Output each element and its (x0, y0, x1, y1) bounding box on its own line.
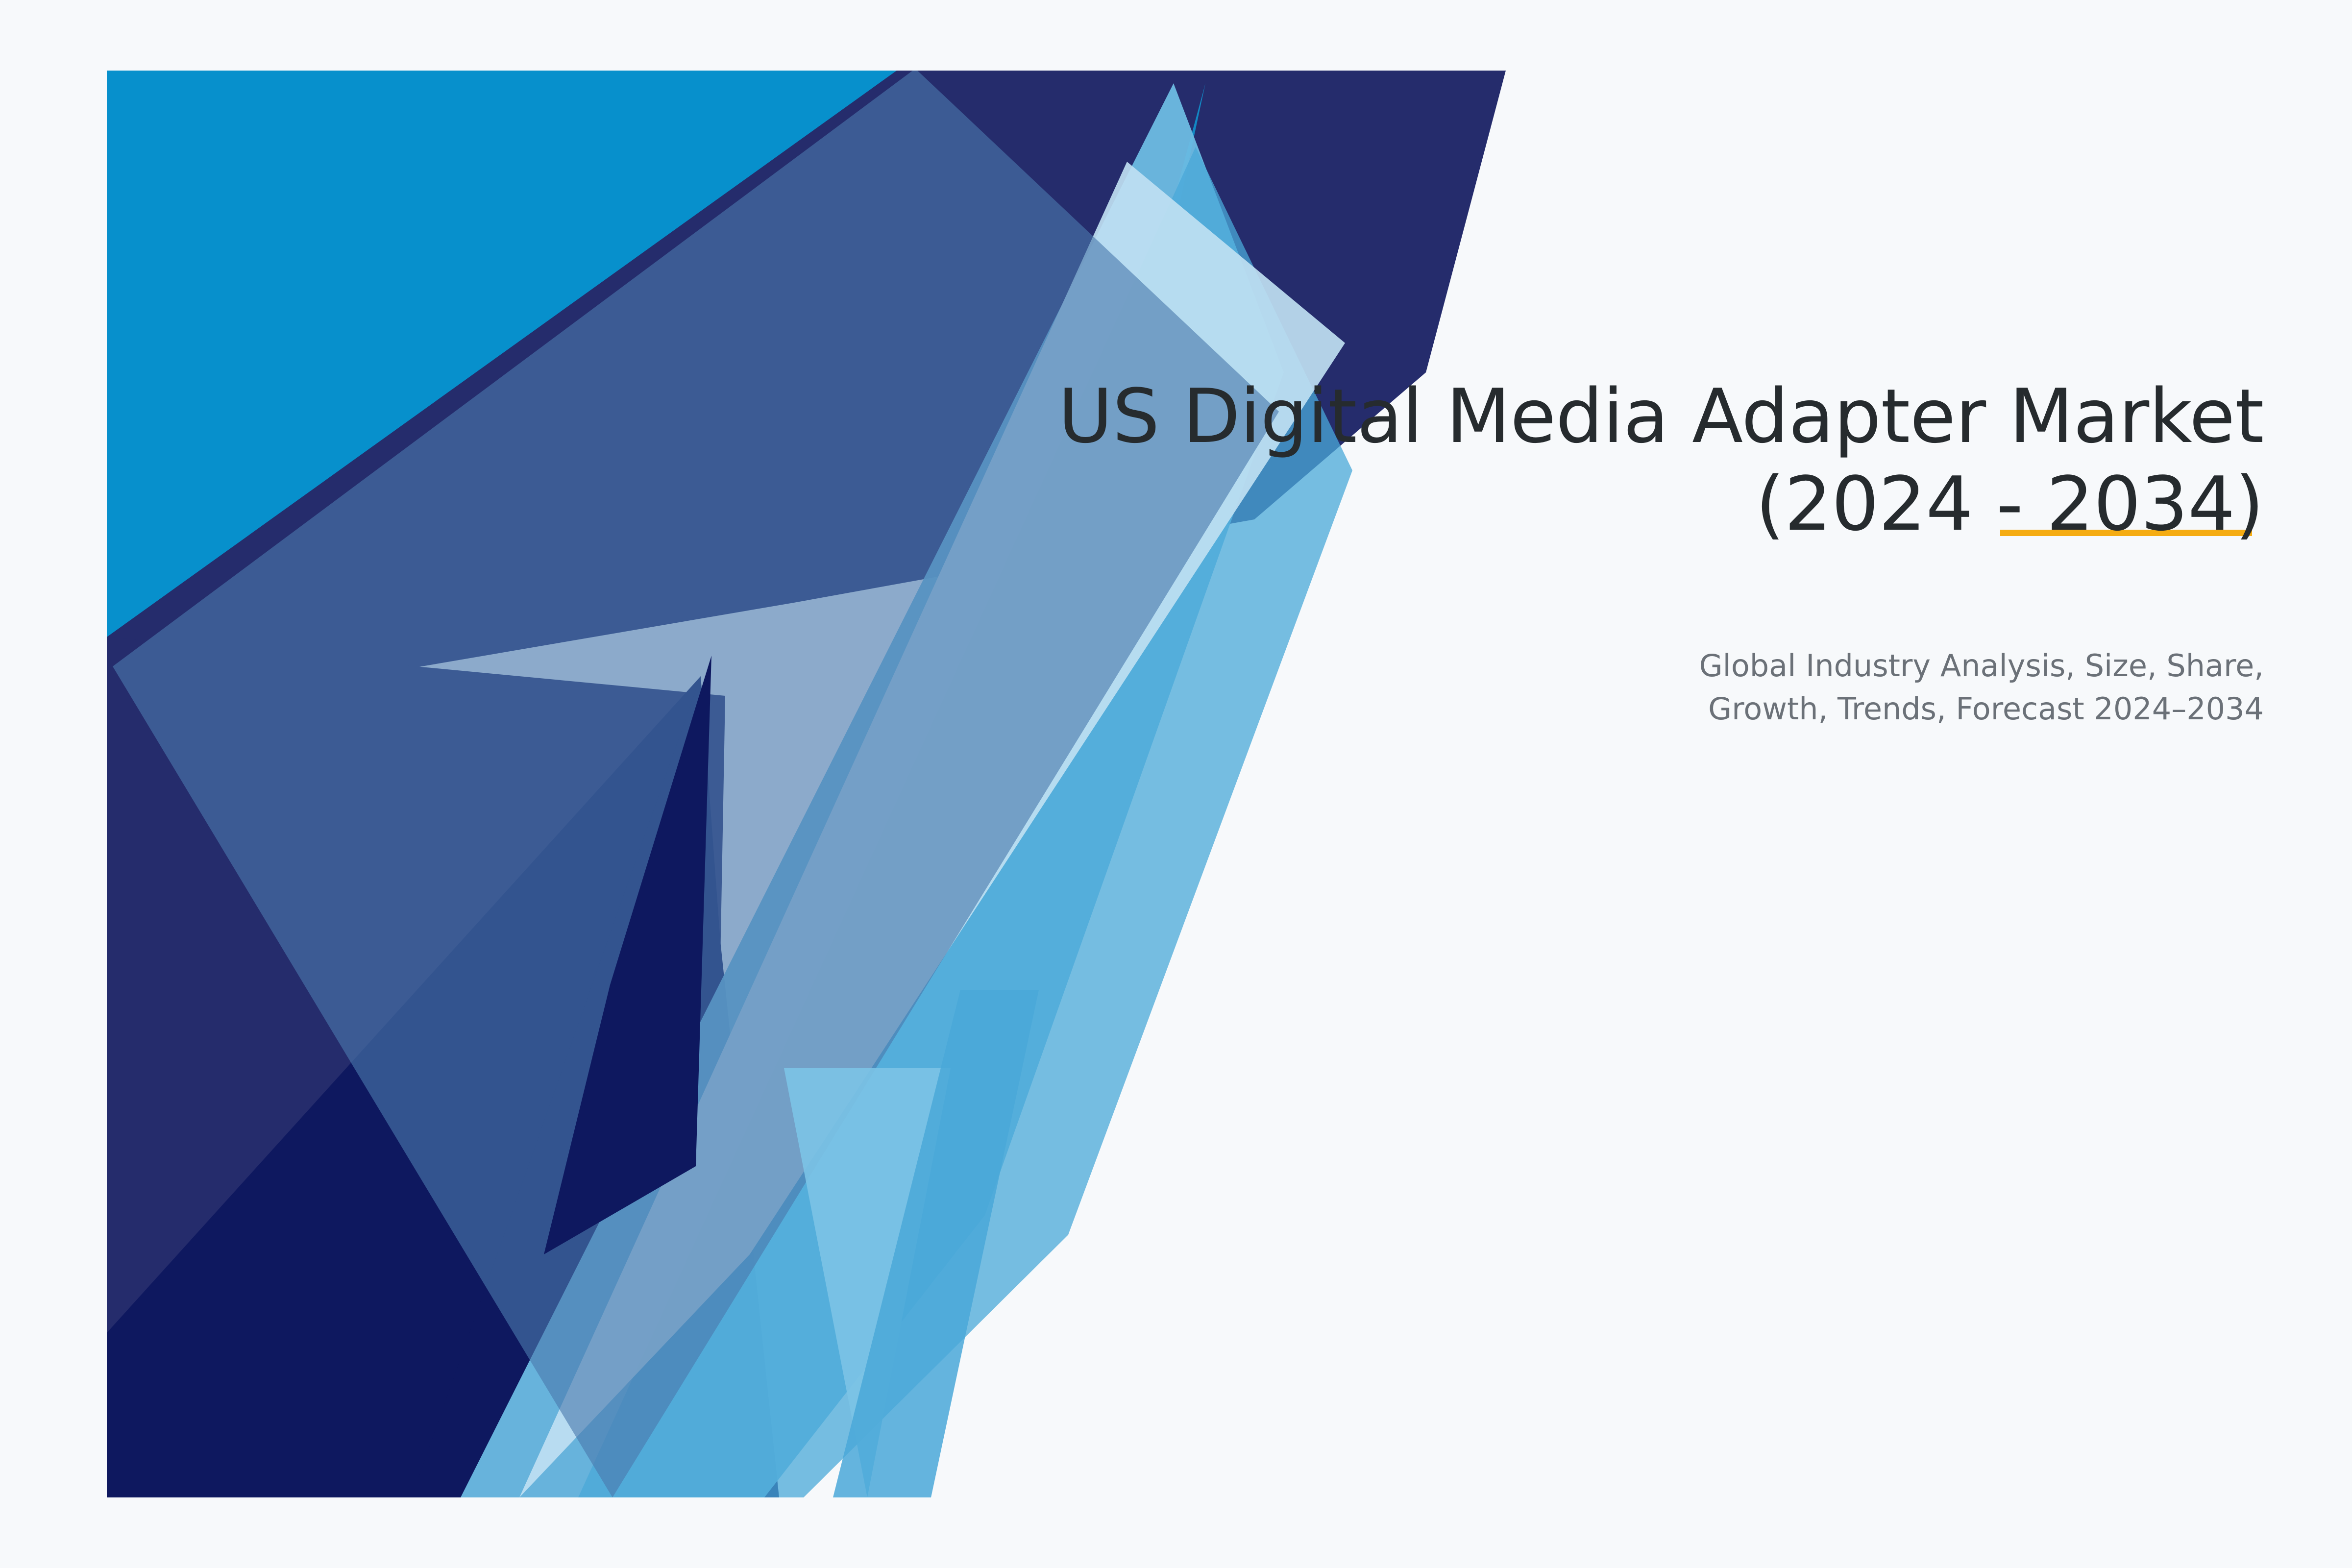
abstract-geometric-artwork (0, 0, 2352, 1568)
page-subtitle: Global Industry Analysis, Size, Share, G… (980, 548, 2264, 731)
page-title: US Digital Media Adapter Market (2024 - … (980, 372, 2264, 548)
cover-text-block: US Digital Media Adapter Market (2024 - … (980, 372, 2264, 731)
report-cover: US Digital Media Adapter Market (2024 - … (0, 0, 2352, 1568)
